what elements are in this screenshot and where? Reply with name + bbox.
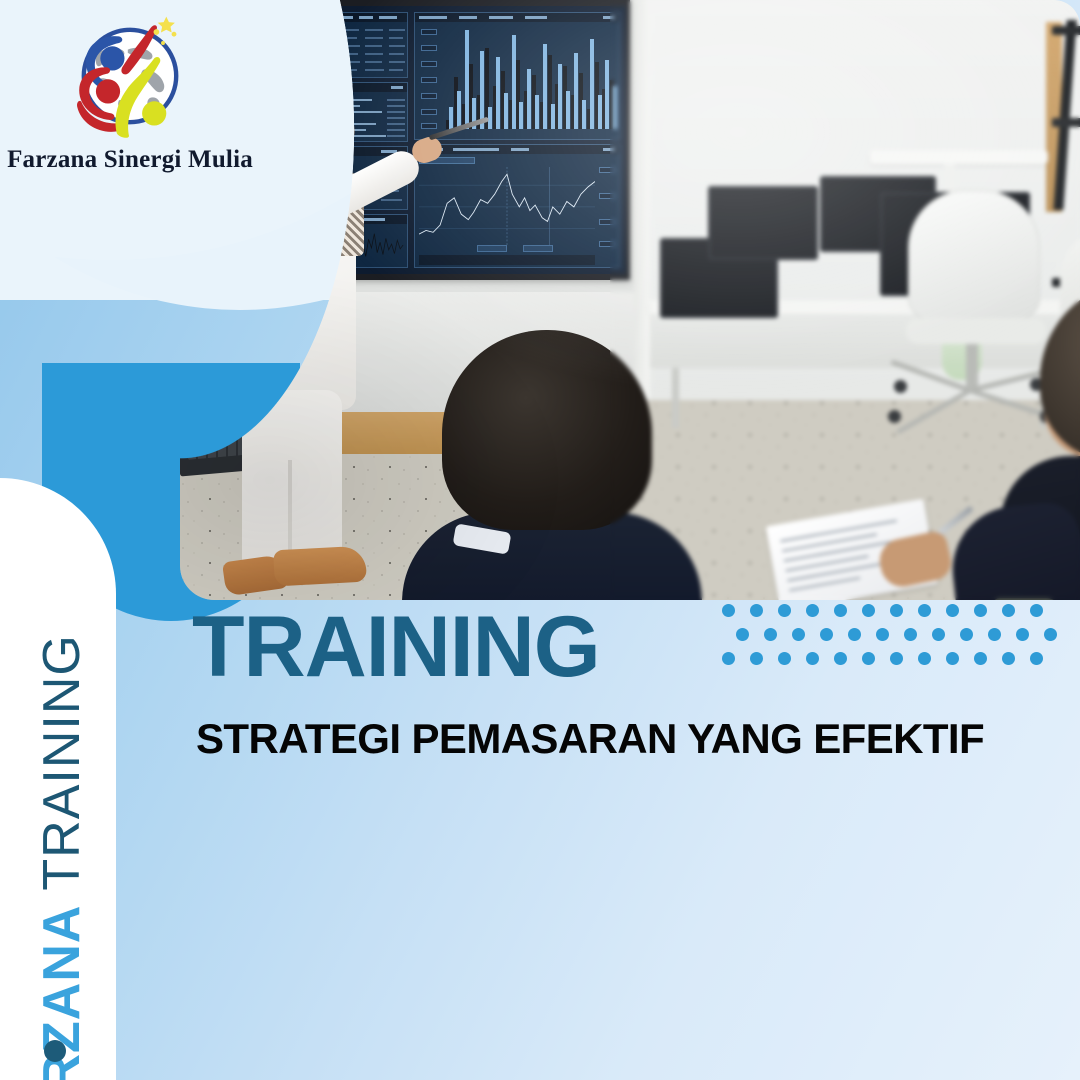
dot xyxy=(932,628,945,641)
chair-caster xyxy=(894,380,907,393)
chart-button[interactable] xyxy=(477,245,507,252)
audience-hair xyxy=(1040,280,1080,460)
dot xyxy=(792,628,805,641)
dot xyxy=(890,652,903,665)
chart-button[interactable] xyxy=(523,245,553,252)
dot xyxy=(918,604,931,617)
dot xyxy=(946,652,959,665)
pane-header xyxy=(311,13,407,22)
hero-photo xyxy=(180,0,1080,600)
chart-bar xyxy=(558,64,562,129)
chart-bar xyxy=(566,91,570,129)
chart-bar xyxy=(519,102,523,129)
audience-member-center xyxy=(442,330,682,600)
dot xyxy=(974,604,987,617)
dot xyxy=(778,604,791,617)
chart-bar xyxy=(535,95,539,129)
vertical-brand-label: FARZANA TRAINING xyxy=(32,460,92,1080)
audience-head xyxy=(442,330,652,530)
company-name: Farzana Sinergi Mulia xyxy=(0,146,260,174)
chart-bar xyxy=(605,60,609,129)
shelf-middle xyxy=(1052,118,1080,127)
presenter-trousers xyxy=(242,390,342,570)
audience-knee xyxy=(947,500,1080,600)
dot xyxy=(1030,652,1043,665)
brand-logo-block: Farzana Sinergi Mulia xyxy=(0,10,260,174)
audience-shoe xyxy=(992,598,1062,600)
chart-bar xyxy=(598,95,602,129)
page-subtitle: STRATEGI PEMASARAN YANG EFEKTIF xyxy=(196,718,984,760)
dot xyxy=(820,628,833,641)
dot xyxy=(750,604,763,617)
dot xyxy=(918,652,931,665)
photo-scene xyxy=(180,0,1080,600)
dot xyxy=(960,628,973,641)
chart-bar xyxy=(457,91,461,129)
dot xyxy=(904,628,917,641)
chart-bar xyxy=(512,35,516,129)
audience-member-right xyxy=(960,280,1080,600)
presenter-shoe-right xyxy=(273,546,367,587)
pane-header xyxy=(415,13,619,22)
chair-caster xyxy=(888,410,901,423)
dot xyxy=(1002,652,1015,665)
monitor-back xyxy=(708,186,818,260)
dot xyxy=(862,652,875,665)
poster-canvas: Farzana Sinergi Mulia TRAINING STRATEGI … xyxy=(0,0,1080,1080)
dot xyxy=(974,652,987,665)
dot xyxy=(806,652,819,665)
shelf-top xyxy=(1052,26,1080,35)
chart-bar xyxy=(465,30,469,129)
chart-bar xyxy=(504,93,508,129)
globe-people-swoosh-logo-icon xyxy=(64,10,196,142)
dot xyxy=(988,628,1001,641)
vertical-label-light: TRAINING xyxy=(32,634,92,890)
dot xyxy=(946,604,959,617)
dot xyxy=(890,604,903,617)
pane-header xyxy=(415,145,619,154)
corner-accent-dot xyxy=(44,1040,66,1062)
pane-price-line-chart xyxy=(414,144,620,268)
chart-footer-bar xyxy=(419,255,595,265)
chart-bar xyxy=(551,104,555,129)
pane-volume-bar-chart xyxy=(414,12,620,140)
dot xyxy=(778,652,791,665)
dot xyxy=(1044,628,1057,641)
dot xyxy=(1002,604,1015,617)
page-title: TRAINING xyxy=(192,604,600,690)
chart-bar xyxy=(543,44,547,129)
dot xyxy=(736,628,749,641)
chart-bar xyxy=(496,57,500,129)
dot xyxy=(862,604,875,617)
dot xyxy=(834,604,847,617)
dot xyxy=(1016,628,1029,641)
chart-bar xyxy=(449,107,453,129)
dot xyxy=(876,628,889,641)
chart-bar xyxy=(582,100,586,129)
dot xyxy=(806,604,819,617)
dot xyxy=(834,652,847,665)
chart-bar xyxy=(574,53,578,129)
dot xyxy=(848,628,861,641)
office-lamp-bar xyxy=(870,150,1048,164)
chart-bar xyxy=(488,107,492,129)
dot xyxy=(750,652,763,665)
chart-bar xyxy=(590,39,594,129)
chart-bar xyxy=(613,86,617,129)
dot xyxy=(1030,604,1043,617)
dot xyxy=(722,652,735,665)
dot xyxy=(722,604,735,617)
dot xyxy=(764,628,777,641)
chart-bar xyxy=(527,69,531,129)
line-chart-svg xyxy=(419,167,595,245)
dot-grid-pattern xyxy=(722,604,1080,676)
